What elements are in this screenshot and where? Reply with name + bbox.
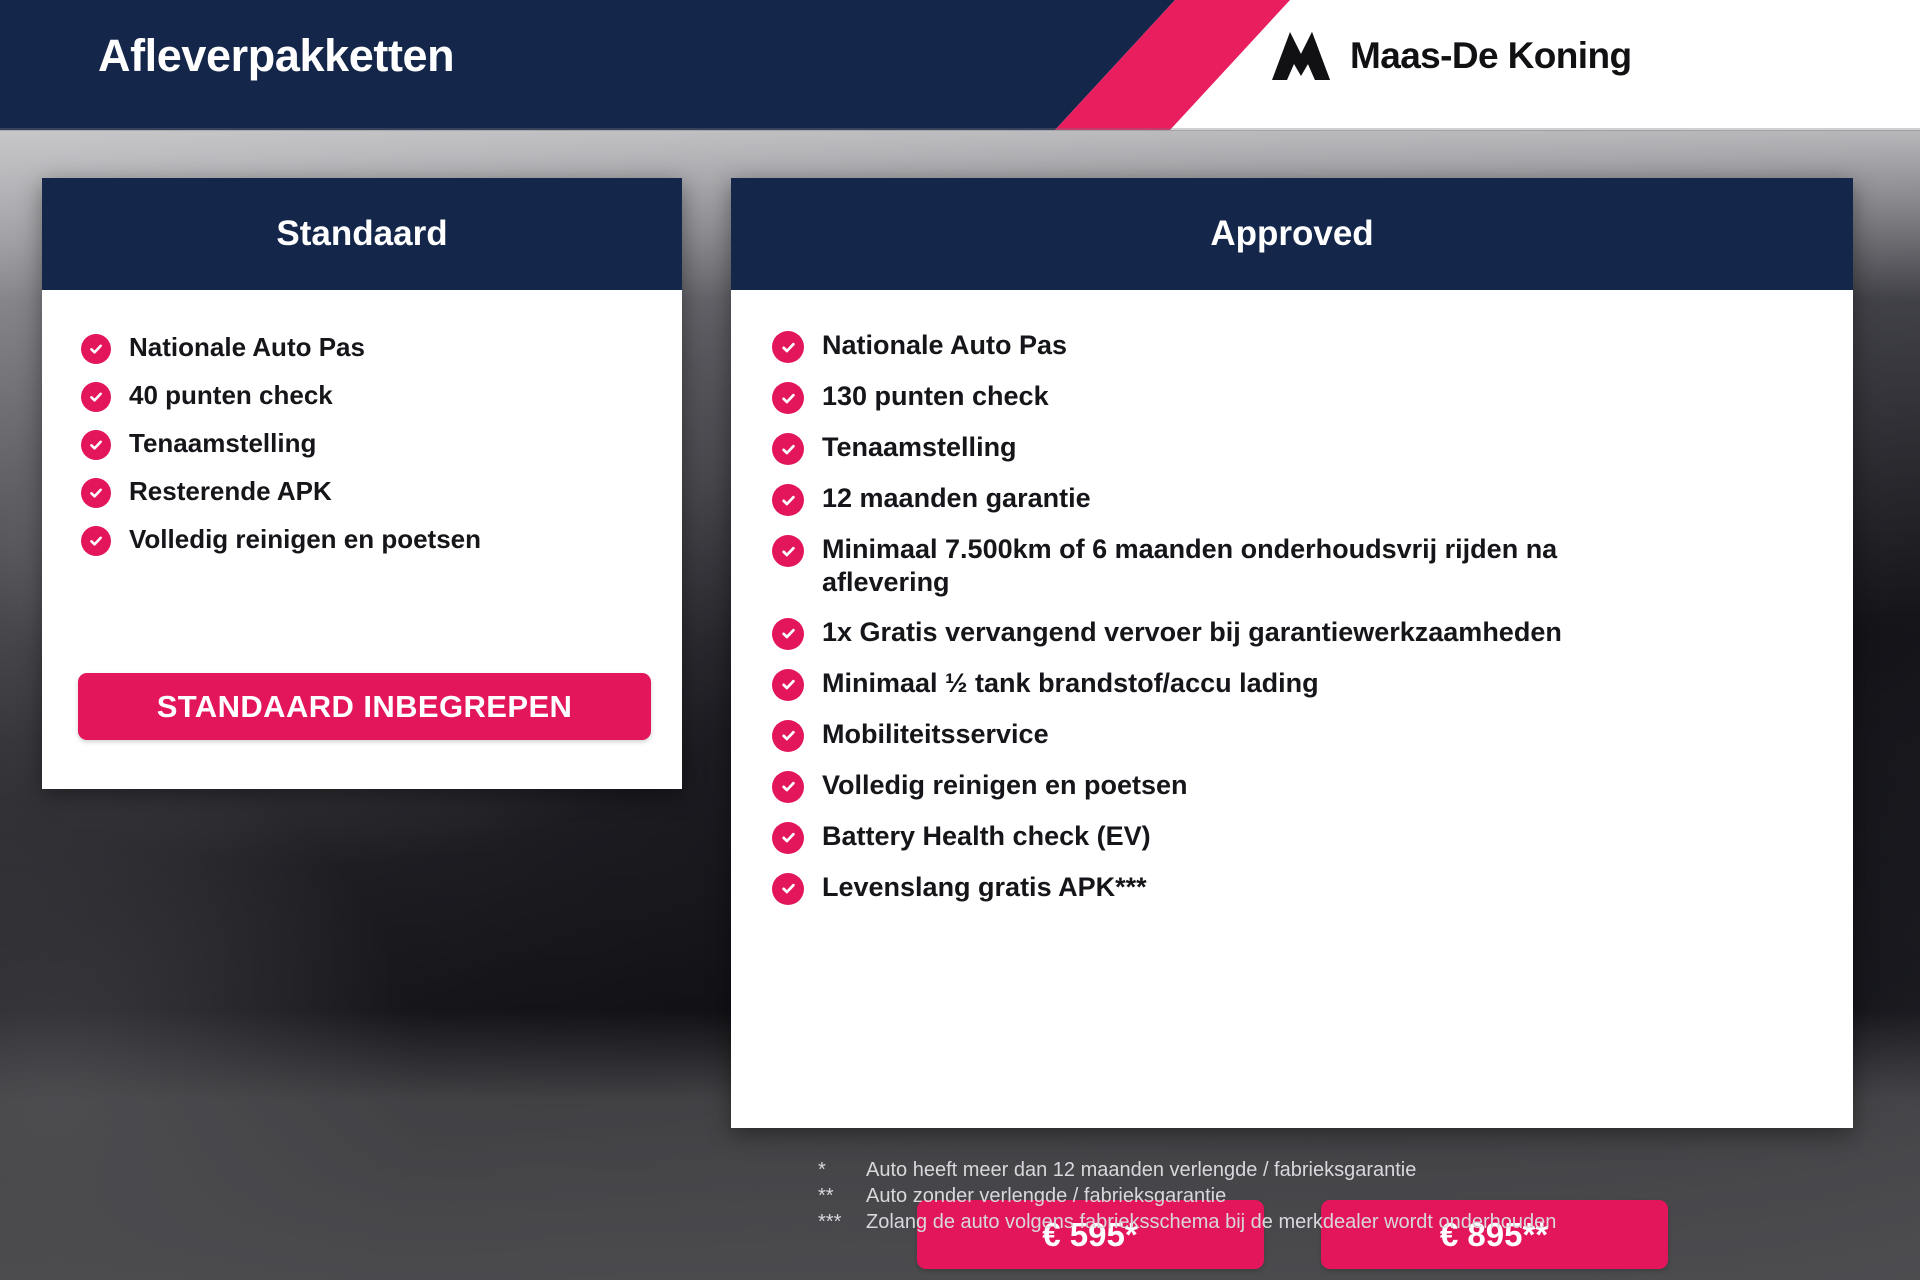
feature-label: Minimaal ½ tank brandstof/accu lading [822, 667, 1319, 700]
list-item: Tenaamstelling [772, 431, 1853, 465]
feature-list-standaard: Nationale Auto Pas 40 punten check Tenaa… [81, 333, 682, 556]
standaard-included-button[interactable]: STANDAARD INBEGREPEN [78, 673, 651, 740]
check-circle-icon [772, 382, 804, 414]
card-title-approved: Approved [1210, 214, 1373, 254]
check-circle-icon [772, 771, 804, 803]
card-title-standaard: Standaard [276, 214, 447, 254]
footnotes: * Auto heeft meer dan 12 maanden verleng… [818, 1157, 1556, 1235]
check-circle-icon [772, 618, 804, 650]
feature-label: Mobiliteitsservice [822, 718, 1049, 751]
check-circle-icon [772, 484, 804, 516]
page-title: Afleverpakketten [98, 30, 454, 82]
check-circle-icon [81, 334, 111, 364]
check-circle-icon [81, 430, 111, 460]
footnote-marker: ** [818, 1183, 866, 1209]
maas-de-koning-m-mark-icon [1270, 30, 1332, 82]
poster-root: Afleverpakketten Maas-De Koning Standaar… [0, 0, 1920, 1280]
list-item: Resterende APK [81, 477, 682, 508]
page-header: Afleverpakketten Maas-De Koning [0, 0, 1920, 130]
list-item: Tenaamstelling [81, 429, 682, 460]
list-item: Nationale Auto Pas [772, 329, 1853, 363]
check-circle-icon [81, 478, 111, 508]
check-circle-icon [772, 433, 804, 465]
footnote-item: ** Auto zonder verlengde / fabrieksgaran… [818, 1183, 1556, 1209]
feature-label: Tenaamstelling [822, 431, 1017, 464]
footnote-text: Auto zonder verlengde / fabrieksgarantie [866, 1183, 1226, 1209]
check-circle-icon [81, 526, 111, 556]
card-header-approved: Approved [731, 178, 1853, 290]
check-circle-icon [772, 331, 804, 363]
list-item: Volledig reinigen en poetsen [772, 769, 1853, 803]
brand-logo: Maas-De Koning [1270, 30, 1631, 82]
feature-label: Resterende APK [129, 477, 332, 506]
footnote-item: * Auto heeft meer dan 12 maanden verleng… [818, 1157, 1556, 1183]
list-item: Volledig reinigen en poetsen [81, 525, 682, 556]
feature-label: Nationale Auto Pas [822, 329, 1067, 362]
feature-label: 1x Gratis vervangend vervoer bij garanti… [822, 616, 1562, 649]
brand-name: Maas-De Koning [1350, 35, 1631, 77]
footnote-marker: * [818, 1157, 866, 1183]
check-circle-icon [772, 669, 804, 701]
list-item: Battery Health check (EV) [772, 820, 1853, 854]
list-item: Levenslang gratis APK*** [772, 871, 1853, 905]
card-header-standaard: Standaard [42, 178, 682, 290]
feature-label: 130 punten check [822, 380, 1049, 413]
list-item: 1x Gratis vervangend vervoer bij garanti… [772, 616, 1853, 650]
footnote-text: Zolang de auto volgens fabrieksschema bi… [866, 1209, 1556, 1235]
feature-label: 40 punten check [129, 381, 333, 410]
feature-list-approved: Nationale Auto Pas 130 punten check Tena… [772, 329, 1853, 905]
footnote-text: Auto heeft meer dan 12 maanden verlengde… [866, 1157, 1416, 1183]
feature-label: Volledig reinigen en poetsen [129, 525, 481, 554]
check-circle-icon [81, 382, 111, 412]
list-item: 130 punten check [772, 380, 1853, 414]
header-divider [0, 128, 1920, 131]
list-item: Mobiliteitsservice [772, 718, 1853, 752]
footnote-item: *** Zolang de auto volgens fabrieksschem… [818, 1209, 1556, 1235]
list-item: Minimaal ½ tank brandstof/accu lading [772, 667, 1853, 701]
feature-label: Volledig reinigen en poetsen [822, 769, 1188, 802]
list-item: 12 maanden garantie [772, 482, 1853, 516]
footnote-marker: *** [818, 1209, 866, 1235]
feature-label: Tenaamstelling [129, 429, 316, 458]
feature-label: Minimaal 7.500km of 6 maanden onderhouds… [822, 533, 1632, 599]
check-circle-icon [772, 535, 804, 567]
card-body-standaard: Nationale Auto Pas 40 punten check Tenaa… [42, 333, 682, 556]
package-card-approved: Approved Nationale Auto Pas 130 punten c… [731, 178, 1853, 1128]
check-circle-icon [772, 873, 804, 905]
feature-label: 12 maanden garantie [822, 482, 1091, 515]
check-circle-icon [772, 822, 804, 854]
check-circle-icon [772, 720, 804, 752]
list-item: Nationale Auto Pas [81, 333, 682, 364]
feature-label: Nationale Auto Pas [129, 333, 365, 362]
feature-label: Levenslang gratis APK*** [822, 871, 1147, 904]
list-item: Minimaal 7.500km of 6 maanden onderhouds… [772, 533, 1632, 599]
feature-label: Battery Health check (EV) [822, 820, 1151, 853]
card-body-approved: Nationale Auto Pas 130 punten check Tena… [731, 329, 1853, 905]
list-item: 40 punten check [81, 381, 682, 412]
